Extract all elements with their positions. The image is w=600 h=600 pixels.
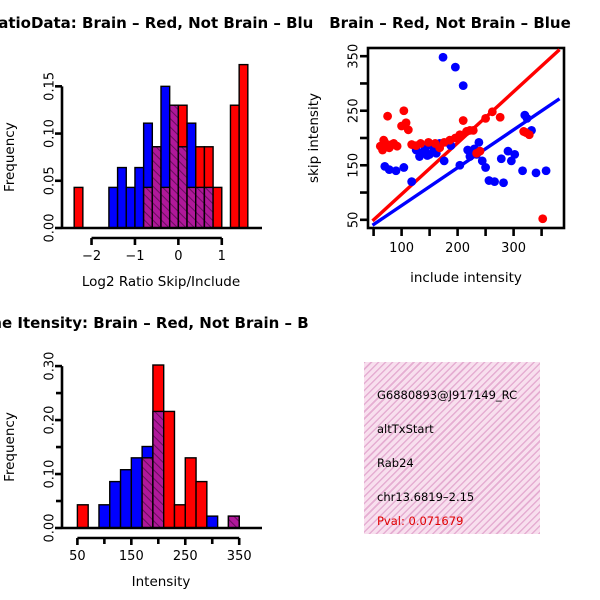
hist-ratio-plot: 0.000.050.100.15−2−101Log2 Ratio Skip/In… — [0, 0, 300, 300]
panel-scatter: Brain – Red, Not Brain – Blue 5015025035… — [300, 0, 600, 300]
scatter-point-brain — [393, 142, 402, 151]
panel-info: G6880893@J917149_RC altTxStart Rab24 chr… — [300, 300, 600, 600]
histogram-bar — [110, 482, 121, 528]
histogram-bar-overlap — [144, 187, 153, 228]
x-axis-tick-label: 50 — [69, 549, 86, 564]
histogram-bar — [185, 458, 196, 528]
x-axis-tick-label: −2 — [82, 249, 101, 264]
histogram-bar — [196, 482, 207, 528]
histogram-bar — [174, 505, 185, 528]
histogram-bar — [121, 470, 132, 528]
scatter-point-not-brain — [490, 177, 499, 186]
x-axis-tick-label: 100 — [389, 241, 414, 256]
scatter-point-not-brain — [459, 81, 468, 90]
scatter-point-brain — [488, 107, 497, 116]
x-axis-tick-label: 0 — [174, 249, 182, 264]
y-axis-tick-label: 0.20 — [43, 406, 58, 435]
scatter-point-not-brain — [499, 178, 508, 187]
x-axis-tick-label: 1 — [218, 249, 226, 264]
x-axis-tick-label: 250 — [173, 549, 198, 564]
scatter-point-brain — [469, 126, 478, 135]
scatter-point-not-brain — [510, 150, 519, 159]
panel-histogram-ratio: RatioData: Brain – Red, Not Brain – Blu … — [0, 0, 300, 300]
scatter-point-not-brain — [440, 157, 449, 166]
histogram-bar — [207, 516, 218, 528]
histogram-bar-overlap — [187, 187, 196, 228]
scatter-point-brain — [481, 114, 490, 123]
hist-intensity-plot: 0.000.100.200.3050150250350IntensityFreq… — [0, 300, 300, 600]
x-axis-tick-label: 150 — [119, 549, 144, 564]
y-axis-tick-label: 0.10 — [43, 460, 58, 489]
scatter-plot: 50150250350100200300include intensityski… — [300, 0, 600, 300]
y-axis-tick-label: 0.10 — [43, 119, 58, 148]
scatter-point-not-brain — [392, 166, 401, 175]
scatter-point-not-brain — [451, 63, 460, 72]
info-line-event: altTxStart — [377, 422, 434, 436]
scatter-point-brain — [476, 147, 485, 156]
scatter-point-brain — [459, 116, 468, 125]
scatter-point-brain — [383, 112, 392, 121]
scatter-point-not-brain — [474, 138, 483, 147]
histogram-bar — [118, 168, 127, 228]
histogram-bar — [239, 65, 248, 228]
scatter-point-not-brain — [455, 161, 464, 170]
panel-histogram-intensity: ne Itensity: Brain – Red, Not Brain – B … — [0, 300, 300, 600]
info-line-pval: Pval: 0.071679 — [377, 514, 463, 528]
scatter-point-brain — [525, 130, 534, 139]
y-axis-tick-label: 350 — [347, 44, 362, 69]
x-axis-title: Intensity — [132, 574, 191, 590]
scatter-point-brain — [538, 214, 547, 223]
histogram-bar-overlap — [153, 411, 164, 528]
histogram-bar-overlap — [228, 516, 239, 528]
y-axis-tick-label: 150 — [347, 153, 362, 178]
y-axis-tick-label: 0.05 — [43, 166, 58, 195]
histogram-bar-overlap — [196, 187, 205, 228]
histogram-bar-overlap — [178, 147, 187, 228]
histogram-bar-overlap — [170, 105, 179, 228]
scatter-point-brain — [416, 139, 425, 148]
y-axis-tick-label: 0.00 — [43, 514, 58, 543]
histogram-bar — [131, 458, 142, 528]
y-axis-tick-label: 0.15 — [43, 72, 58, 101]
x-axis-tick-label: 350 — [227, 549, 252, 564]
y-axis-title: skip intensity — [306, 93, 322, 183]
x-axis-title: include intensity — [410, 270, 522, 286]
scatter-point-not-brain — [518, 166, 527, 175]
histogram-bar — [135, 168, 144, 228]
gene-info-box: G6880893@J917149_RC altTxStart Rab24 chr… — [364, 362, 540, 534]
histogram-bar — [213, 187, 222, 228]
scatter-point-brain — [496, 113, 505, 122]
x-axis-title: Log2 Ratio Skip/Include — [82, 274, 240, 290]
histogram-bar — [77, 505, 88, 528]
scatter-point-not-brain — [497, 154, 506, 163]
histogram-bar-overlap — [142, 458, 153, 528]
y-axis-tick-label: 0.30 — [43, 352, 58, 381]
scatter-point-not-brain — [439, 53, 448, 62]
histogram-bar-overlap — [204, 187, 213, 228]
histogram-bar-overlap — [161, 187, 170, 228]
scatter-point-brain — [404, 125, 413, 134]
scatter-point-not-brain — [399, 163, 408, 172]
scatter-point-not-brain — [532, 169, 541, 178]
histogram-bar — [99, 505, 110, 528]
histogram-bar — [74, 187, 83, 228]
y-axis-title: Frequency — [2, 122, 18, 192]
info-line-gene: Rab24 — [377, 456, 414, 470]
y-axis-tick-label: 250 — [347, 98, 362, 123]
y-axis-tick-label: 50 — [347, 212, 362, 229]
x-axis-tick-label: −1 — [125, 249, 144, 264]
x-axis-tick-label: 200 — [445, 241, 470, 256]
histogram-bar-overlap — [152, 147, 161, 228]
scatter-point-not-brain — [407, 177, 416, 186]
y-axis-tick-label: 0.00 — [43, 214, 58, 243]
scatter-point-not-brain — [481, 163, 490, 172]
plot-frame — [368, 48, 564, 228]
scatter-data-area — [372, 50, 559, 226]
histogram-bar — [126, 187, 135, 228]
histogram-bar — [109, 187, 118, 228]
scatter-point-not-brain — [523, 114, 532, 123]
x-axis-tick-label: 300 — [501, 241, 526, 256]
scatter-point-brain — [399, 106, 408, 115]
info-line-probe: G6880893@J917149_RC — [377, 388, 517, 402]
y-axis-title: Frequency — [2, 412, 18, 482]
info-line-locus: chr13.6819–2.15 — [377, 490, 474, 504]
scatter-point-not-brain — [542, 166, 551, 175]
histogram-bar — [230, 105, 239, 228]
histogram-bar — [164, 411, 175, 528]
